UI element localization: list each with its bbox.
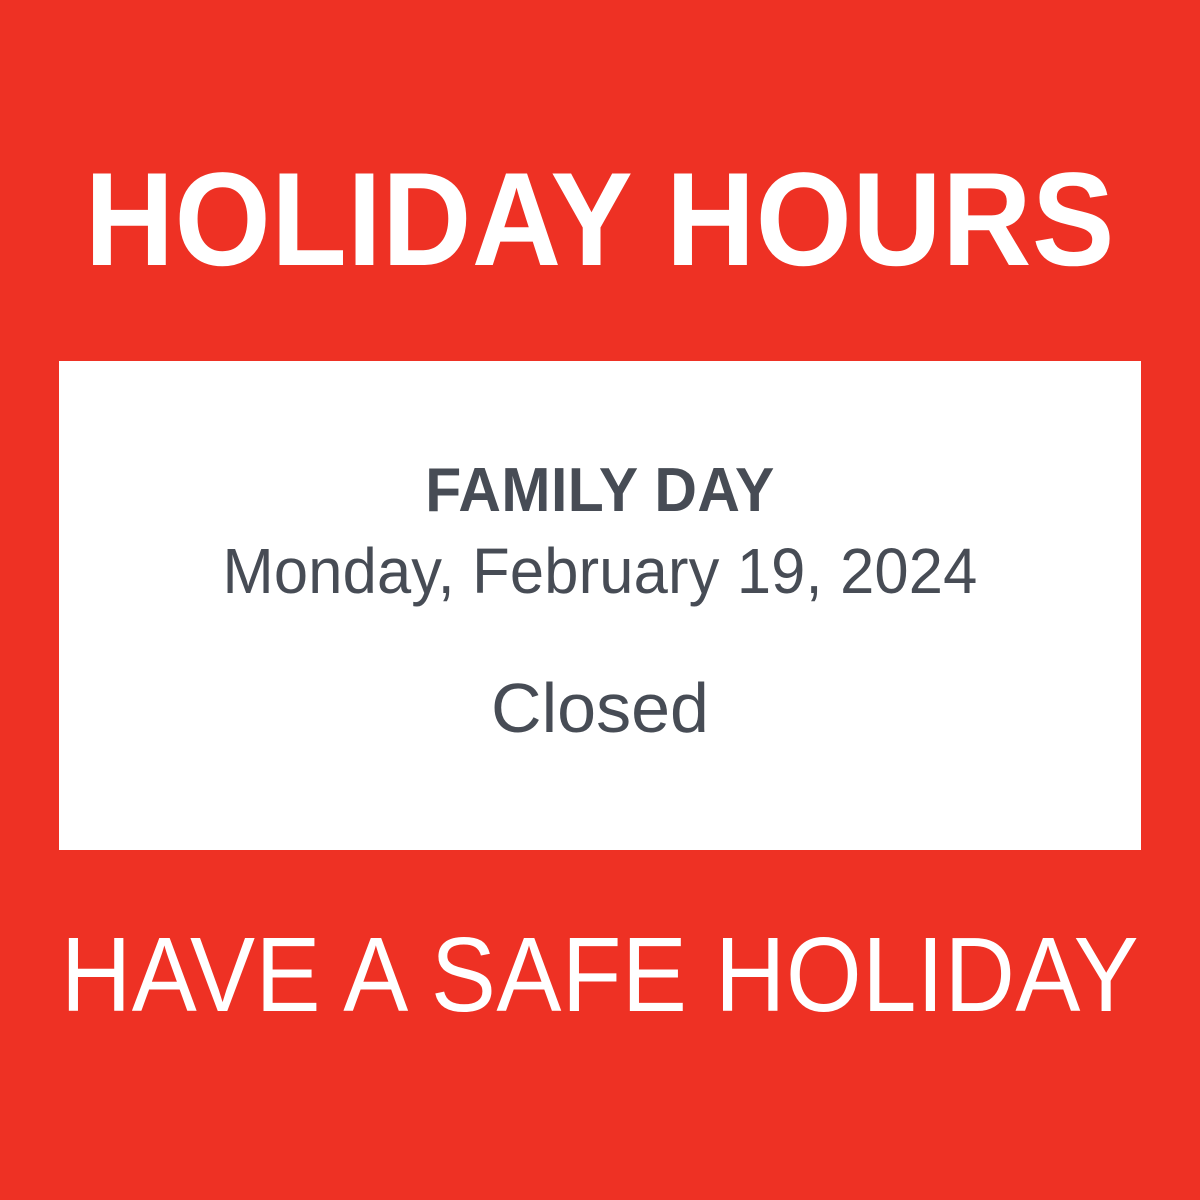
holiday-status: Closed [59, 670, 1141, 747]
page-title: HOLIDAY HOURS [85, 154, 1115, 287]
holiday-date: Monday, February 19, 2024 [81, 536, 1120, 608]
headline-banner: HOLIDAY HOURS [0, 150, 1200, 290]
footer-message: HAVE A SAFE HOLIDAY [61, 922, 1139, 1028]
holiday-info-group: FAMILY DAY Monday, February 19, 2024 Clo… [59, 458, 1141, 746]
footer-banner: HAVE A SAFE HOLIDAY [0, 915, 1200, 1035]
holiday-name: FAMILY DAY [86, 458, 1114, 524]
holiday-hours-poster: HOLIDAY HOURS FAMILY DAY Monday, Februar… [0, 0, 1200, 1200]
holiday-info-card: FAMILY DAY Monday, February 19, 2024 Clo… [59, 361, 1141, 850]
